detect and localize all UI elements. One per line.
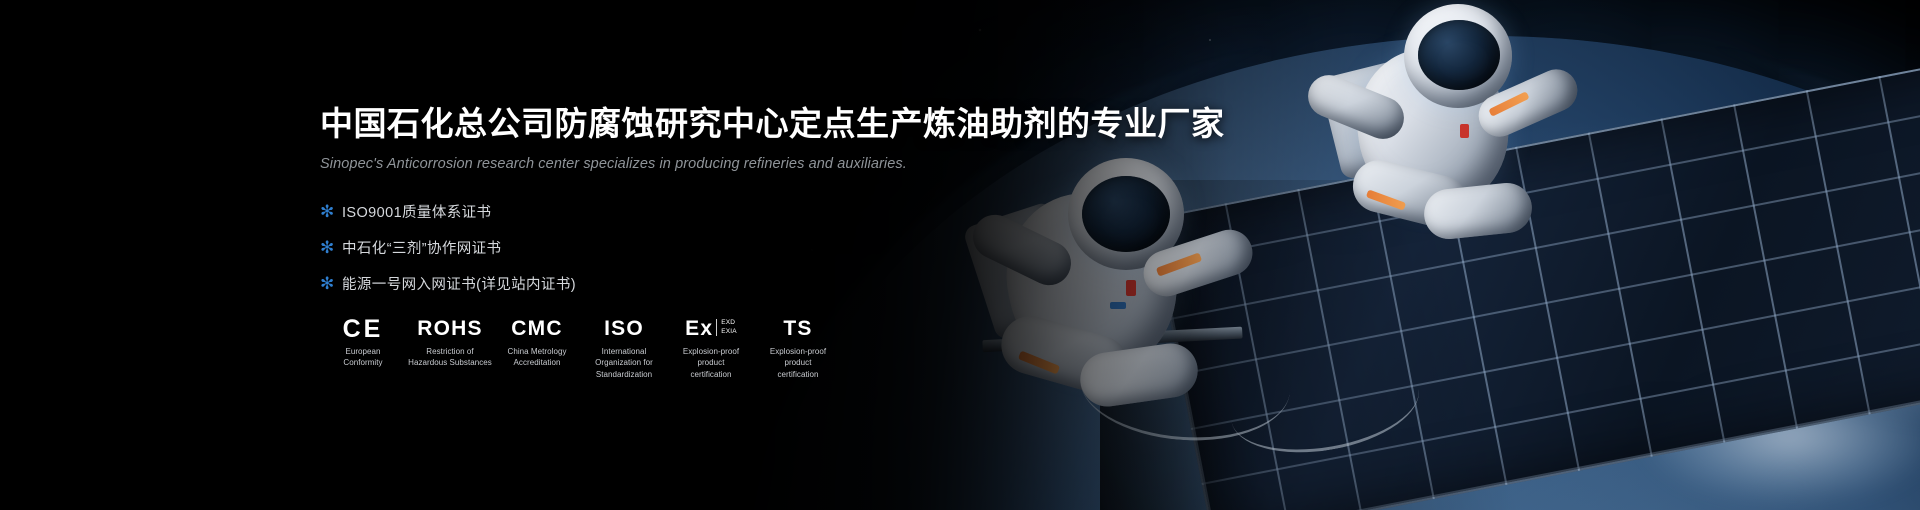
cert-mark-ce: CE bbox=[343, 316, 384, 342]
astronaut-visor bbox=[1418, 20, 1500, 90]
list-item: ✻ 能源一号网入网证书(详见站内证书) bbox=[320, 270, 1080, 298]
cert-desc-ts: Explosion-proofproductcertification bbox=[755, 346, 841, 381]
certificate-list: ✻ ISO9001质量体系证书 ✻ 中石化“三剂”协作网证书 ✻ 能源一号网入网… bbox=[320, 198, 1080, 298]
hero-banner: 中国石化总公司防腐蚀研究中心定点生产炼油助剂的专业厂家 Sinopec's An… bbox=[0, 0, 1920, 510]
cert-desc-iso: InternationalOrganization forStandardiza… bbox=[581, 346, 667, 381]
cert-badge-ce: CE EuropeanConformity bbox=[320, 316, 406, 369]
cert-mark-text: CMC bbox=[511, 316, 562, 342]
asterisk-icon: ✻ bbox=[320, 203, 342, 220]
astronaut-background bbox=[1300, 0, 1600, 290]
list-item: ✻ ISO9001质量体系证书 bbox=[320, 198, 1080, 226]
asterisk-icon: ✻ bbox=[320, 275, 342, 292]
list-item-label: ISO9001质量体系证书 bbox=[342, 201, 491, 222]
cert-badge-ex: Ex EXDEXIA Explosion-proofproductcertifi… bbox=[668, 316, 754, 381]
cert-badge-ts: TS Explosion-proofproductcertification bbox=[755, 316, 841, 381]
list-item-label: 能源一号网入网证书(详见站内证书) bbox=[342, 273, 576, 294]
list-item: ✻ 中石化“三剂”协作网证书 bbox=[320, 234, 1080, 262]
cert-mark-text: Ex bbox=[685, 316, 713, 342]
cert-mark-text: CE bbox=[343, 316, 384, 342]
cert-mark-text: TS bbox=[783, 316, 812, 342]
certification-badge-row: CE EuropeanConformity ROHS Restriction o… bbox=[320, 316, 1080, 381]
banner-subheadline: Sinopec's Anticorrosion research center … bbox=[320, 156, 1080, 172]
banner-headline: 中国石化总公司防腐蚀研究中心定点生产炼油助剂的专业厂家 bbox=[320, 104, 1080, 144]
cert-badge-iso: ISO InternationalOrganization forStandar… bbox=[581, 316, 667, 381]
astronaut-visor bbox=[1082, 176, 1170, 252]
cert-desc-cmc: China MetrologyAccreditation bbox=[494, 346, 580, 369]
cert-mark-rohs: ROHS bbox=[417, 316, 482, 342]
cert-mark-ex: Ex EXDEXIA bbox=[685, 316, 737, 342]
cert-mark-cmc: CMC bbox=[511, 316, 562, 342]
banner-content: 中国石化总公司防腐蚀研究中心定点生产炼油助剂的专业厂家 Sinopec's An… bbox=[320, 104, 1080, 380]
cert-desc-ex: Explosion-proofproductcertification bbox=[668, 346, 754, 381]
cert-mark-subtext: EXDEXIA bbox=[716, 319, 737, 335]
cert-badge-cmc: CMC China MetrologyAccreditation bbox=[494, 316, 580, 369]
cert-desc-rohs: Restriction ofHazardous Substances bbox=[407, 346, 493, 369]
cert-mark-ts: TS bbox=[783, 316, 812, 342]
asterisk-icon: ✻ bbox=[320, 239, 342, 256]
cert-badge-rohs: ROHS Restriction ofHazardous Substances bbox=[407, 316, 493, 369]
suit-indicator bbox=[1460, 124, 1469, 138]
list-item-label: 中石化“三剂”协作网证书 bbox=[342, 237, 501, 258]
cert-mark-iso: ISO bbox=[604, 316, 644, 342]
suit-indicator bbox=[1126, 280, 1136, 296]
cert-desc-ce: EuropeanConformity bbox=[320, 346, 406, 369]
cert-mark-text: ISO bbox=[604, 316, 644, 342]
suit-indicator bbox=[1110, 302, 1126, 309]
cert-mark-text: ROHS bbox=[417, 316, 482, 342]
